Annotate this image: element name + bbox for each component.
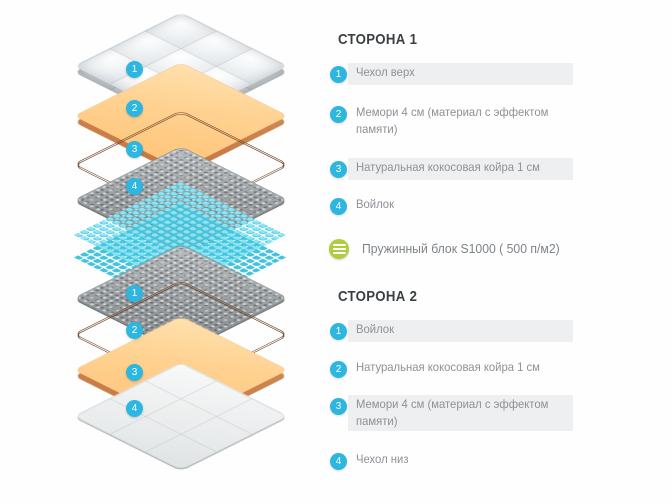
illustration-badge-5: 1	[126, 285, 143, 302]
legend-label: Натуральная кокосовая койра 1 см	[356, 359, 634, 376]
legend-label: Натуральная кокосовая койра 1 см	[356, 159, 634, 176]
legend-label: Чехол низ	[356, 451, 634, 468]
heading-side-1: СТОРОНА 1	[338, 31, 417, 48]
mattress-layers-infographic: 1 2 3 4 1 2 3 4 СТОРОНА 1 1 Чехол верх 2…	[0, 0, 672, 504]
legend-row-s1-4[interactable]: 4 Войлок	[330, 195, 664, 217]
illustration-badge-8: 4	[126, 400, 143, 417]
legend-badge: 2	[330, 106, 347, 123]
illustration-badge-6: 2	[126, 322, 143, 339]
illustration-badge-1: 1	[126, 61, 143, 78]
legend-badge: 4	[330, 453, 347, 470]
spring-block-icon	[329, 239, 349, 259]
legend-label: Чехол верх	[356, 64, 634, 81]
legend-badge: 2	[330, 361, 347, 378]
legend-label: Мемори 4 см (материал с эффектом памяти)	[356, 396, 580, 430]
legend-row-s2-3[interactable]: 3 Мемори 4 см (материал с эффектом памят…	[330, 395, 664, 431]
illustration-badge-3: 3	[126, 141, 143, 158]
legend-row-s2-1[interactable]: 1 Войлок	[330, 320, 664, 342]
legend-row-s2-2[interactable]: 2 Натуральная кокосовая койра 1 см	[330, 358, 664, 380]
mattress-exploded-illustration: 1 2 3 4 1 2 3 4	[0, 0, 330, 504]
legend-badge: 4	[330, 198, 347, 215]
legend-row-spring-block[interactable]: Пружинный блок S1000 ( 500 п/м2)	[330, 238, 664, 262]
spring-bar	[333, 244, 346, 246]
legend-badge: 3	[330, 398, 347, 415]
layer-bottom-cover	[105, 340, 255, 490]
legend-label: Пружинный блок S1000 ( 500 п/м2)	[362, 240, 635, 257]
spring-bar	[333, 252, 346, 254]
spring-bar	[333, 248, 346, 250]
legend-label: Войлок	[356, 196, 634, 213]
legend-badge: 3	[330, 161, 347, 178]
legend-row-s1-1[interactable]: 1 Чехол верх	[330, 63, 664, 85]
layers-legend: СТОРОНА 1 1 Чехол верх 2 Мемори 4 см (ма…	[330, 0, 672, 504]
legend-label: Мемори 4 см (материал с эффектом памяти)	[356, 104, 580, 138]
legend-badge: 1	[330, 66, 347, 83]
legend-row-s1-3[interactable]: 3 Натуральная кокосовая койра 1 см	[330, 158, 664, 180]
illustration-badge-2: 2	[126, 100, 143, 117]
illustration-badge-4: 4	[126, 178, 143, 195]
illustration-badge-7: 3	[126, 364, 143, 381]
legend-label: Войлок	[356, 321, 634, 338]
legend-row-s2-4[interactable]: 4 Чехол низ	[330, 450, 664, 472]
legend-badge: 1	[330, 323, 347, 340]
heading-side-2: СТОРОНА 2	[338, 288, 417, 305]
legend-row-s1-2[interactable]: 2 Мемори 4 см (материал с эффектом памят…	[330, 103, 664, 137]
